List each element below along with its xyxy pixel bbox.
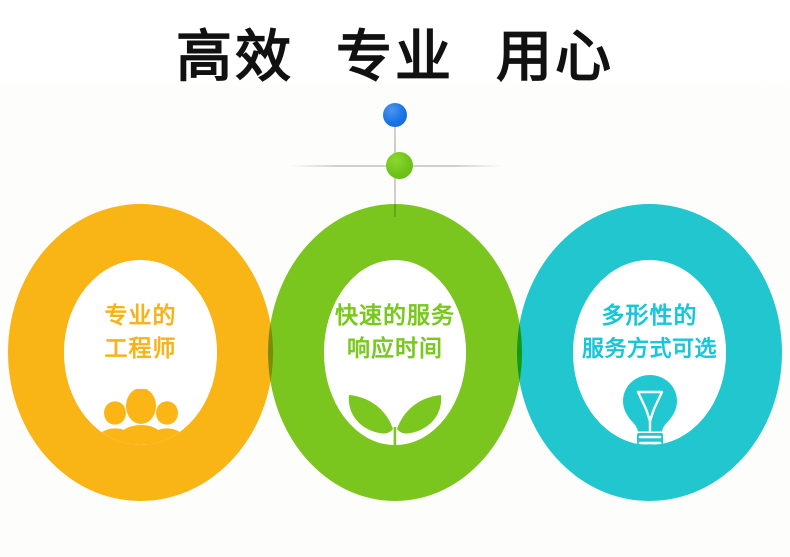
card-response-line2: 响应时间 — [324, 333, 466, 366]
card-response-line1: 快速的服务 — [324, 300, 466, 333]
card-service-modes-line1: 多形性的 — [573, 300, 726, 333]
lightbulb-icon — [573, 373, 726, 445]
card-engineers: 专业的 工程师 — [64, 260, 217, 445]
card-engineers-label: 专业的 工程师 — [64, 300, 217, 366]
card-service-modes-label: 多形性的 服务方式可选 — [573, 300, 726, 366]
card-engineers-line2: 工程师 — [64, 333, 217, 366]
card-response: 快速的服务 响应时间 — [324, 260, 466, 445]
people-group-icon — [64, 389, 217, 445]
card-service-modes: 多形性的 服务方式可选 — [573, 260, 726, 445]
card-engineers-line1: 专业的 — [64, 300, 217, 333]
infographic-canvas: 高效专业用心 专业的 工程师 — [0, 0, 790, 557]
sprout-plant-icon — [324, 381, 466, 445]
card-response-label: 快速的服务 响应时间 — [324, 300, 466, 366]
card-service-modes-line2: 服务方式可选 — [573, 333, 726, 366]
